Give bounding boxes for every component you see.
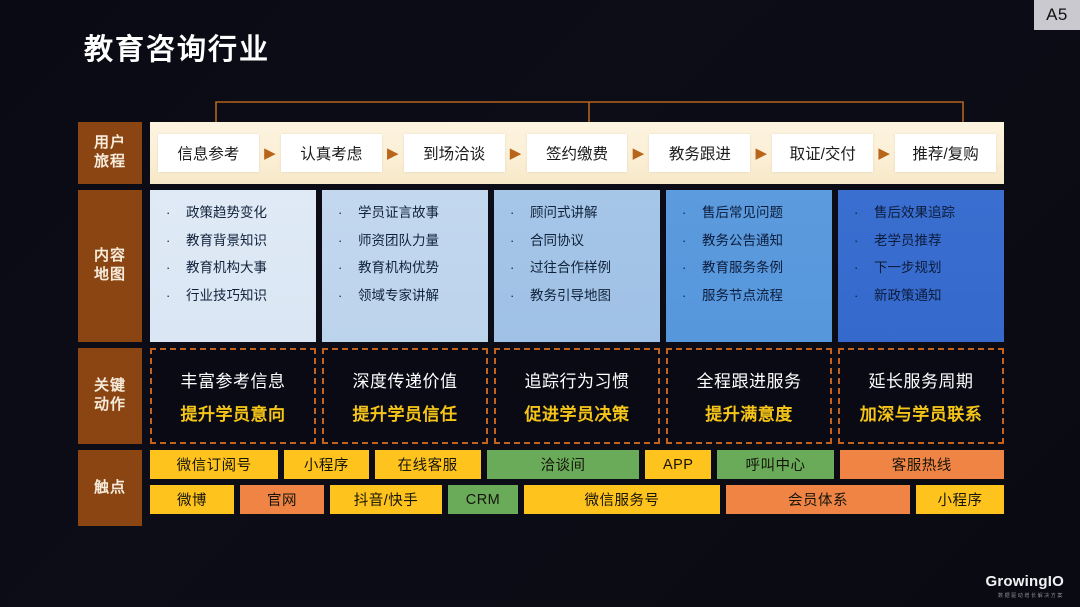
row-label-line1: 内容 xyxy=(94,247,126,266)
content-map-column: ·学员证言故事·师资团队力量·教育机构优势·领域专家讲解 xyxy=(322,190,488,342)
content-map-item: ·老学员推荐 xyxy=(854,234,998,248)
journey-step[interactable]: 教务跟进 xyxy=(649,134,750,172)
journey-step[interactable]: 认真考虑 xyxy=(281,134,382,172)
content-map-item: ·合同协议 xyxy=(510,234,654,248)
bullet-icon: · xyxy=(510,206,530,219)
journey-step[interactable]: 信息参考 xyxy=(158,134,259,172)
touchpoint-chip[interactable]: 抖音/快手 xyxy=(330,485,442,514)
key-action-card: 深度传递价值提升学员信任 xyxy=(322,348,488,444)
content-map-item-label: 政策趋势变化 xyxy=(186,206,267,220)
content-map-item: ·领域专家讲解 xyxy=(338,289,482,303)
touchpoint-chip[interactable]: 客服热线 xyxy=(840,450,1004,479)
content-map-item-label: 教育背景知识 xyxy=(186,234,267,248)
content-map-column: ·顾问式讲解·合同协议·过往合作样例·教务引导地图 xyxy=(494,190,660,342)
content-map-item: ·教育背景知识 xyxy=(166,234,310,248)
row-label-touchpoints: 触点 xyxy=(78,450,142,526)
key-action-primary-label: 全程跟进服务 xyxy=(697,367,802,392)
content-map-item: ·行业技巧知识 xyxy=(166,289,310,303)
bullet-icon: · xyxy=(682,206,702,219)
bullet-icon: · xyxy=(166,261,186,274)
touchpoint-chip-rows: 微信订阅号小程序在线客服洽谈间APP呼叫中心客服热线微博官网抖音/快手CRM微信… xyxy=(150,450,1004,526)
touchpoint-chip[interactable]: APP xyxy=(645,450,711,479)
bullet-icon: · xyxy=(854,261,874,274)
row-label-line1: 触点 xyxy=(94,479,126,498)
content-map-item: ·教育机构优势 xyxy=(338,261,482,275)
content-map-item-label: 老学员推荐 xyxy=(874,234,942,248)
touchpoint-chip[interactable]: 会员体系 xyxy=(726,485,910,514)
content-map-item-label: 顾问式讲解 xyxy=(530,206,598,220)
content-map-item-label: 合同协议 xyxy=(530,234,584,248)
journey-step[interactable]: 到场洽谈 xyxy=(404,134,505,172)
touchpoint-row: 微信订阅号小程序在线客服洽谈间APP呼叫中心客服热线 xyxy=(150,450,1004,479)
touchpoint-chip[interactable]: 微博 xyxy=(150,485,234,514)
content-map-item: ·新政策通知 xyxy=(854,289,998,303)
content-map-item-label: 下一步规划 xyxy=(874,261,942,275)
key-action-card: 延长服务周期加深与学员联系 xyxy=(838,348,1004,444)
touchpoint-chip[interactable]: 呼叫中心 xyxy=(717,450,833,479)
row-label-line2: 旅程 xyxy=(94,153,126,172)
journey-arrow-icon: ▶ xyxy=(873,144,895,162)
content-map-item-label: 教育服务条例 xyxy=(702,261,783,275)
bullet-icon: · xyxy=(854,289,874,302)
key-action-primary-label: 丰富参考信息 xyxy=(181,367,286,392)
content-map-item-label: 教育机构大事 xyxy=(186,261,267,275)
logo-subtitle: 数据驱动增长解决方案 xyxy=(986,592,1064,599)
bullet-icon: · xyxy=(854,206,874,219)
bullet-icon: · xyxy=(510,234,530,247)
bullet-icon: · xyxy=(682,289,702,302)
key-action-goal-label: 提升满意度 xyxy=(705,400,793,425)
key-action-goal-label: 促进学员决策 xyxy=(525,400,630,425)
journey-steps-strip: 信息参考▶认真考虑▶到场洽谈▶签约缴费▶教务跟进▶取证/交付▶推荐/复购 xyxy=(150,122,1004,184)
content-map-item-label: 教育机构优势 xyxy=(358,261,439,275)
key-action-card: 全程跟进服务提升满意度 xyxy=(666,348,832,444)
content-map-column: ·政策趋势变化·教育背景知识·教育机构大事·行业技巧知识 xyxy=(150,190,316,342)
touchpoint-chip[interactable]: 小程序 xyxy=(916,485,1004,514)
journey-arrow-icon: ▶ xyxy=(505,144,527,162)
key-action-goal-label: 提升学员意向 xyxy=(181,400,286,425)
slide-number-badge: A5 xyxy=(1034,0,1080,30)
touchpoint-chip[interactable]: 官网 xyxy=(240,485,324,514)
touchpoint-chip[interactable]: 微信服务号 xyxy=(524,485,720,514)
row-touchpoints: 触点 微信订阅号小程序在线客服洽谈间APP呼叫中心客服热线微博官网抖音/快手CR… xyxy=(78,450,1004,526)
content-map-item: ·教务引导地图 xyxy=(510,289,654,303)
bullet-icon: · xyxy=(682,234,702,247)
content-map-column: ·售后常见问题·教务公告通知·教育服务条例·服务节点流程 xyxy=(666,190,832,342)
journey-arrow-icon: ▶ xyxy=(259,144,281,162)
content-map-item: ·教育服务条例 xyxy=(682,261,826,275)
touchpoint-chip[interactable]: 洽谈间 xyxy=(487,450,639,479)
key-action-card: 追踪行为习惯促进学员决策 xyxy=(494,348,660,444)
row-label-line1: 关键 xyxy=(94,377,126,396)
content-map-item-label: 新政策通知 xyxy=(874,289,942,303)
content-map-item: ·售后常见问题 xyxy=(682,206,826,220)
content-map-item-label: 教务引导地图 xyxy=(530,289,611,303)
content-map-item-label: 售后效果追踪 xyxy=(874,206,955,220)
bullet-icon: · xyxy=(338,289,358,302)
bullet-icon: · xyxy=(166,289,186,302)
journey-step[interactable]: 推荐/复购 xyxy=(895,134,996,172)
bullet-icon: · xyxy=(166,206,186,219)
content-map-item-label: 行业技巧知识 xyxy=(186,289,267,303)
content-map-item-label: 师资团队力量 xyxy=(358,234,439,248)
content-map-item: ·顾问式讲解 xyxy=(510,206,654,220)
content-map-item: ·过往合作样例 xyxy=(510,261,654,275)
row-label-line2: 地图 xyxy=(94,266,126,285)
row-key-actions: 关键 动作 丰富参考信息提升学员意向深度传递价值提升学员信任追踪行为习惯促进学员… xyxy=(78,348,1004,444)
row-content-map: 内容 地图 ·政策趋势变化·教育背景知识·教育机构大事·行业技巧知识·学员证言故… xyxy=(78,190,1004,342)
touchpoint-row: 微博官网抖音/快手CRM微信服务号会员体系小程序 xyxy=(150,485,1004,514)
slide-canvas: A5 教育咨询行业 用户 旅程 信息参考▶认真考虑▶到场洽谈▶签约缴费▶教务跟进… xyxy=(0,0,1080,607)
brand-logo: GrowingIO 数据驱动增长解决方案 xyxy=(986,573,1064,599)
content-map-item: ·服务节点流程 xyxy=(682,289,826,303)
content-map-item-label: 过往合作样例 xyxy=(530,261,611,275)
row-label-user-journey: 用户 旅程 xyxy=(78,122,142,184)
key-action-card: 丰富参考信息提升学员意向 xyxy=(150,348,316,444)
row-label-line2: 动作 xyxy=(94,396,126,415)
content-map-item-label: 服务节点流程 xyxy=(702,289,783,303)
key-action-goal-label: 加深与学员联系 xyxy=(860,400,983,425)
row-label-key-actions: 关键 动作 xyxy=(78,348,142,444)
bullet-icon: · xyxy=(338,234,358,247)
touchpoint-chip[interactable]: 微信订阅号 xyxy=(150,450,278,479)
content-map-item-label: 领域专家讲解 xyxy=(358,289,439,303)
logo-wordmark: GrowingIO xyxy=(986,573,1064,590)
page-title: 教育咨询行业 xyxy=(84,26,270,68)
content-map-item: ·售后效果追踪 xyxy=(854,206,998,220)
row-user-journey: 用户 旅程 信息参考▶认真考虑▶到场洽谈▶签约缴费▶教务跟进▶取证/交付▶推荐/… xyxy=(78,122,1004,184)
key-action-goal-label: 提升学员信任 xyxy=(353,400,458,425)
bullet-icon: · xyxy=(682,261,702,274)
content-map-item: ·师资团队力量 xyxy=(338,234,482,248)
journey-step[interactable]: 取证/交付 xyxy=(772,134,873,172)
touchpoint-chip[interactable]: 在线客服 xyxy=(375,450,481,479)
journey-arrow-icon: ▶ xyxy=(627,144,649,162)
content-map-item-label: 售后常见问题 xyxy=(702,206,783,220)
bullet-icon: · xyxy=(510,261,530,274)
content-map-columns: ·政策趋势变化·教育背景知识·教育机构大事·行业技巧知识·学员证言故事·师资团队… xyxy=(150,190,1004,342)
journey-matrix: 用户 旅程 信息参考▶认真考虑▶到场洽谈▶签约缴费▶教务跟进▶取证/交付▶推荐/… xyxy=(78,122,1004,532)
bullet-icon: · xyxy=(338,206,358,219)
bullet-icon: · xyxy=(166,234,186,247)
touchpoint-chip[interactable]: CRM xyxy=(448,485,518,514)
content-map-item-label: 教务公告通知 xyxy=(702,234,783,248)
journey-arrow-icon: ▶ xyxy=(382,144,404,162)
journey-step[interactable]: 签约缴费 xyxy=(527,134,628,172)
content-map-column: ·售后效果追踪·老学员推荐·下一步规划·新政策通知 xyxy=(838,190,1004,342)
row-label-line1: 用户 xyxy=(94,134,126,153)
key-action-primary-label: 深度传递价值 xyxy=(353,367,458,392)
content-map-item: ·政策趋势变化 xyxy=(166,206,310,220)
content-map-item: ·学员证言故事 xyxy=(338,206,482,220)
key-action-primary-label: 延长服务周期 xyxy=(869,367,974,392)
key-actions-columns: 丰富参考信息提升学员意向深度传递价值提升学员信任追踪行为习惯促进学员决策全程跟进… xyxy=(150,348,1004,444)
key-action-primary-label: 追踪行为习惯 xyxy=(525,367,630,392)
content-map-item: ·教务公告通知 xyxy=(682,234,826,248)
touchpoint-chip[interactable]: 小程序 xyxy=(284,450,368,479)
bullet-icon: · xyxy=(854,234,874,247)
bullet-icon: · xyxy=(338,261,358,274)
bullet-icon: · xyxy=(510,289,530,302)
content-map-item: ·下一步规划 xyxy=(854,261,998,275)
content-map-item: ·教育机构大事 xyxy=(166,261,310,275)
row-label-content-map: 内容 地图 xyxy=(78,190,142,342)
content-map-item-label: 学员证言故事 xyxy=(358,206,439,220)
journey-arrow-icon: ▶ xyxy=(750,144,772,162)
